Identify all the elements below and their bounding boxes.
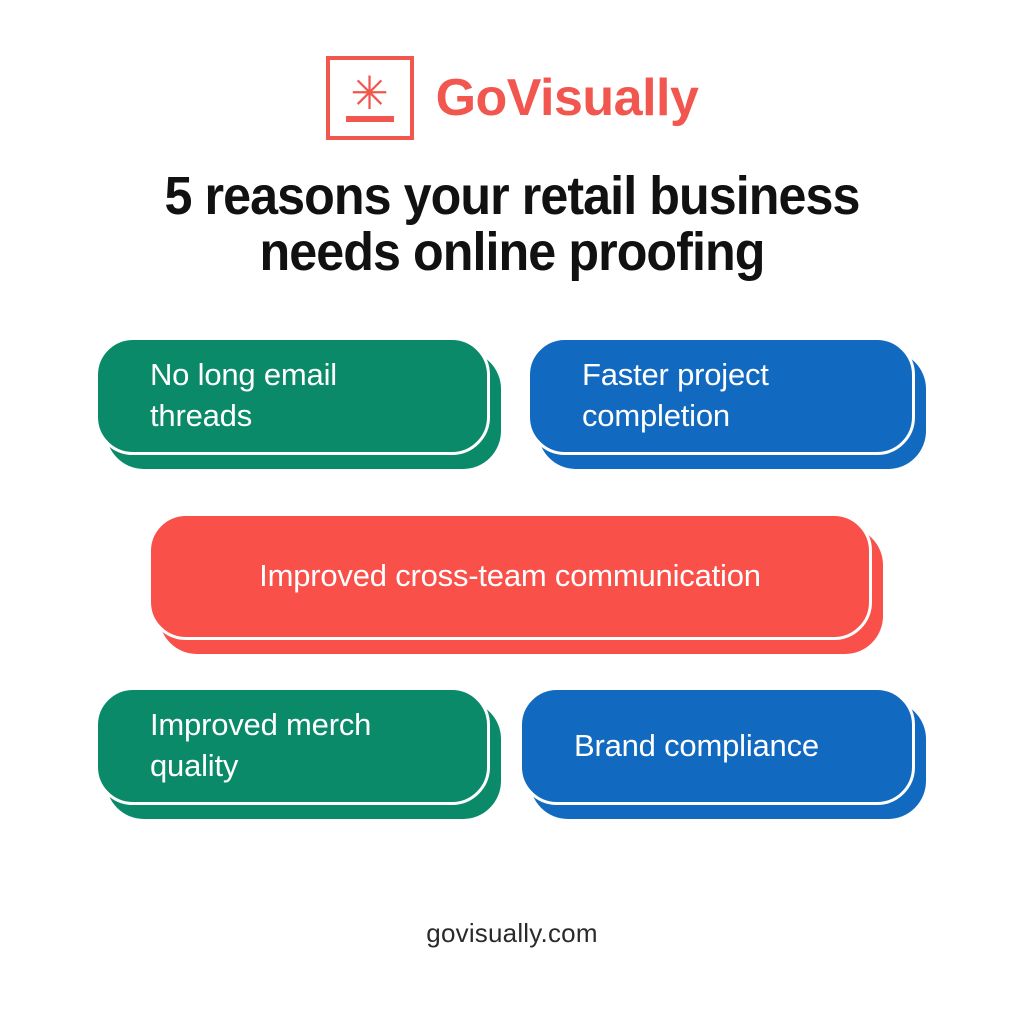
reason-label: Faster project completion bbox=[530, 355, 795, 437]
reason-card-no-long-email-threads: No long email threads bbox=[95, 337, 490, 455]
logo-underline-bar bbox=[346, 116, 394, 122]
reason-card-improved-cross-team-communication: Improved cross-team communication bbox=[148, 513, 872, 640]
footer-website: govisually.com bbox=[0, 918, 1024, 949]
reason-label: Brand compliance bbox=[522, 726, 845, 767]
brand-logo: ✳ GoVisually bbox=[0, 56, 1024, 140]
page-title: 5 reasons your retail business needs onl… bbox=[94, 168, 931, 280]
card-face: Brand compliance bbox=[519, 687, 915, 805]
asterisk-square-icon: ✳ bbox=[326, 56, 414, 140]
reason-card-faster-project-completion: Faster project completion bbox=[527, 337, 915, 455]
card-face: Faster project completion bbox=[527, 337, 915, 455]
reason-card-improved-merch-quality: Improved merch quality bbox=[95, 687, 490, 805]
reason-card-brand-compliance: Brand compliance bbox=[519, 687, 915, 805]
reason-label: Improved cross-team communication bbox=[231, 556, 789, 597]
reason-label: Improved merch quality bbox=[98, 705, 397, 787]
card-face: Improved merch quality bbox=[95, 687, 490, 805]
card-face: Improved cross-team communication bbox=[148, 513, 872, 640]
brand-wordmark: GoVisually bbox=[436, 72, 699, 124]
infographic-canvas: ✳ GoVisually 5 reasons your retail busin… bbox=[0, 0, 1024, 1024]
card-face: No long email threads bbox=[95, 337, 490, 455]
reason-label: No long email threads bbox=[98, 355, 363, 437]
asterisk-glyph: ✳ bbox=[330, 70, 410, 116]
